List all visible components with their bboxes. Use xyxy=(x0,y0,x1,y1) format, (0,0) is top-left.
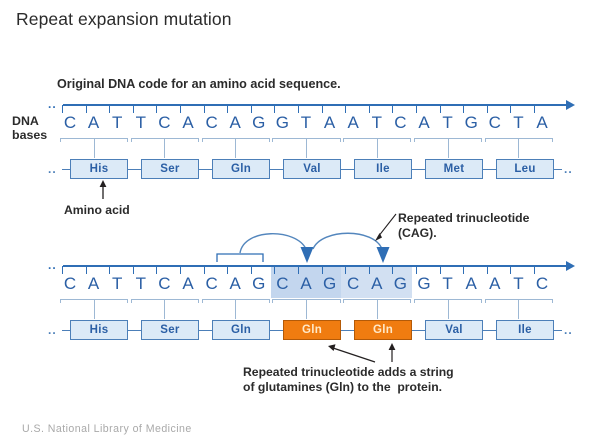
codon-bar-end xyxy=(485,299,486,303)
base-tick xyxy=(510,105,511,113)
repeat-arc-1-icon xyxy=(240,234,314,263)
dna-base: C xyxy=(271,274,293,294)
codon-stem xyxy=(448,299,449,319)
dna-base: T xyxy=(106,274,128,294)
codon-stem xyxy=(377,299,378,319)
dna-base: C xyxy=(531,274,553,294)
base-tick xyxy=(133,105,134,113)
codon-stem xyxy=(518,299,519,319)
chain-link xyxy=(341,330,354,331)
base-tick xyxy=(392,105,393,113)
base-tick xyxy=(369,105,370,113)
amino-acid-box: Val xyxy=(283,159,341,179)
dna-base: T xyxy=(295,113,317,133)
amino-acid-box: Ser xyxy=(141,320,199,340)
codon-stem xyxy=(164,299,165,319)
dna-base: A xyxy=(224,274,246,294)
strand1-backbone xyxy=(63,104,566,106)
codon-bar-end xyxy=(343,138,344,142)
dna-base: G xyxy=(413,274,435,294)
base-tick xyxy=(416,266,417,274)
codon-bar-end xyxy=(269,299,270,303)
codon-bar-end xyxy=(127,138,128,142)
dna-base: T xyxy=(437,274,459,294)
repeated-trinucleotide-callout-label: Repeated trinucleotide(CAG). xyxy=(398,211,529,241)
base-tick xyxy=(487,266,488,274)
dna-base: A xyxy=(342,113,364,133)
chain-link xyxy=(554,169,562,170)
codon-bar-end xyxy=(131,299,132,303)
base-tick xyxy=(440,105,441,113)
codon-stem xyxy=(448,138,449,158)
dna-bases-label: DNAbases xyxy=(12,114,47,142)
base-tick xyxy=(62,105,63,113)
chain-link xyxy=(483,330,496,331)
base-tick xyxy=(86,105,87,113)
codon-stem xyxy=(306,138,307,158)
dna-base: C xyxy=(59,274,81,294)
chain-lead-ellipsis: .. xyxy=(48,323,57,337)
amino-acid-box-expanded: Gln xyxy=(283,320,341,340)
dna-base: G xyxy=(248,113,270,133)
chain-trail-ellipsis: .. xyxy=(564,323,573,337)
codon-stem xyxy=(235,299,236,319)
base-tick xyxy=(534,105,535,113)
codon-bar-end xyxy=(60,138,61,142)
base-tick xyxy=(298,105,299,113)
base-tick xyxy=(180,266,181,274)
base-tick xyxy=(440,266,441,274)
codon-bar-end xyxy=(410,299,411,303)
amino-acid-box: Ile xyxy=(354,159,412,179)
chain-link xyxy=(62,330,70,331)
dna-base: A xyxy=(177,274,199,294)
base-tick xyxy=(180,105,181,113)
dna-base: A xyxy=(83,274,105,294)
base-tick xyxy=(534,266,535,274)
chain-link xyxy=(270,330,283,331)
original-sequence-caption: Original DNA code for an amino acid sequ… xyxy=(57,77,341,91)
base-tick xyxy=(62,266,63,274)
codon-bar-end xyxy=(340,299,341,303)
base-tick xyxy=(109,105,110,113)
base-tick xyxy=(133,266,134,274)
amino-acid-leader-arrow-icon xyxy=(100,180,107,199)
base-tick xyxy=(156,105,157,113)
codon-bar-end xyxy=(410,138,411,142)
amino-acid-box: Ile xyxy=(496,320,554,340)
page-title: Repeat expansion mutation xyxy=(16,9,232,30)
dna-base: A xyxy=(224,113,246,133)
codon-stem xyxy=(94,299,95,319)
codon-bar-end xyxy=(272,299,273,303)
base-tick xyxy=(156,266,157,274)
codon-bar-end xyxy=(340,138,341,142)
repeated-trinucleotide-leader-arrow-icon xyxy=(375,214,396,241)
codon-stem xyxy=(306,299,307,319)
base-tick xyxy=(274,105,275,113)
base-tick xyxy=(204,105,205,113)
base-tick xyxy=(298,266,299,274)
dna-base: T xyxy=(437,113,459,133)
codon-bar-end xyxy=(552,138,553,142)
dna-base: C xyxy=(389,113,411,133)
strand1-arrowhead-icon xyxy=(566,100,575,110)
dna-base: A xyxy=(366,274,388,294)
dna-base: C xyxy=(59,113,81,133)
base-tick xyxy=(227,105,228,113)
chain-link xyxy=(128,169,141,170)
dna-base: A xyxy=(484,274,506,294)
codon-bar-end xyxy=(485,138,486,142)
codon-bar-end xyxy=(60,299,61,303)
dna-base: C xyxy=(201,274,223,294)
base-tick xyxy=(510,266,511,274)
base-tick xyxy=(416,105,417,113)
base-tick xyxy=(463,105,464,113)
dna-base: G xyxy=(248,274,270,294)
codon-bar-end xyxy=(414,299,415,303)
base-tick xyxy=(251,266,252,274)
dna-base: A xyxy=(413,113,435,133)
amino-acid-box: Val xyxy=(425,320,483,340)
amino-acid-box: Gln xyxy=(212,159,270,179)
amino-acid-box-expanded: Gln xyxy=(354,320,412,340)
codon-stem xyxy=(377,138,378,158)
amino-acid-box: Leu xyxy=(496,159,554,179)
dna-base: C xyxy=(484,113,506,133)
codon-bar-end xyxy=(414,138,415,142)
chain-link xyxy=(554,330,562,331)
chain-lead-ellipsis: .. xyxy=(48,162,57,176)
base-tick xyxy=(345,105,346,113)
base-tick xyxy=(251,105,252,113)
chain-link xyxy=(412,330,425,331)
dna-base: T xyxy=(106,113,128,133)
base-tick xyxy=(487,105,488,113)
codon-bar-end xyxy=(198,299,199,303)
text-line: Repeated trinucleotide adds a string xyxy=(243,365,454,379)
codon-bar-end xyxy=(269,138,270,142)
codon-bar-end xyxy=(481,299,482,303)
dna-base: C xyxy=(153,274,175,294)
amino-acid-callout-label: Amino acid xyxy=(64,203,130,217)
strand1-lead-ellipsis: .. xyxy=(48,101,57,107)
chain-link xyxy=(128,330,141,331)
strand2-arrowhead-icon xyxy=(566,261,575,271)
codon-stem xyxy=(94,138,95,158)
dna-base: G xyxy=(460,113,482,133)
amino-acid-box: Ser xyxy=(141,159,199,179)
codon-bar-end xyxy=(481,138,482,142)
base-tick xyxy=(392,266,393,274)
chain-link xyxy=(412,169,425,170)
amino-acid-box: His xyxy=(70,320,128,340)
codon-bar-end xyxy=(552,299,553,303)
codon-bar-end xyxy=(127,299,128,303)
chain-link xyxy=(270,169,283,170)
chain-link xyxy=(483,169,496,170)
amino-acid-box: His xyxy=(70,159,128,179)
diagram-canvas: Repeat expansion mutation Original DNA c… xyxy=(0,0,600,442)
strand2-backbone xyxy=(63,265,566,267)
base-tick xyxy=(204,266,205,274)
base-tick xyxy=(463,266,464,274)
amino-acid-box: Met xyxy=(425,159,483,179)
dna-base: A xyxy=(460,274,482,294)
dna-base: G xyxy=(271,113,293,133)
chain-trail-ellipsis: .. xyxy=(564,162,573,176)
dna-base: A xyxy=(177,113,199,133)
base-tick xyxy=(322,105,323,113)
amino-acid-box: Gln xyxy=(212,320,270,340)
base-tick xyxy=(274,266,275,274)
dna-base: A xyxy=(83,113,105,133)
dna-base: T xyxy=(130,274,152,294)
repeat-arc-2-icon xyxy=(313,233,390,263)
base-tick xyxy=(369,266,370,274)
text-line: of glutamines (Gln) to the protein. xyxy=(243,380,442,394)
bottom-note-leader-arrow-1-icon xyxy=(328,344,375,362)
codon-bar-end xyxy=(272,138,273,142)
dna-base: T xyxy=(507,113,529,133)
chain-link xyxy=(341,169,354,170)
text-line: Repeated trinucleotide xyxy=(398,211,529,225)
base-tick xyxy=(345,266,346,274)
base-tick xyxy=(227,266,228,274)
bottom-note-label: Repeated trinucleotide adds a stringof g… xyxy=(243,365,454,395)
dna-base: C xyxy=(201,113,223,133)
dna-base: A xyxy=(531,113,553,133)
base-tick xyxy=(86,266,87,274)
dna-base: C xyxy=(153,113,175,133)
chain-link xyxy=(199,169,212,170)
dna-base: T xyxy=(366,113,388,133)
codon-stem xyxy=(518,138,519,158)
text-line: (CAG). xyxy=(398,226,437,240)
dna-base: C xyxy=(342,274,364,294)
dna-base: T xyxy=(130,113,152,133)
dna-base: A xyxy=(319,113,341,133)
dna-base: T xyxy=(507,274,529,294)
codon-stem xyxy=(164,138,165,158)
codon-bar-end xyxy=(202,299,203,303)
strand2-lead-ellipsis: .. xyxy=(48,262,57,268)
bottom-note-leader-arrow-2-icon xyxy=(389,343,396,362)
codon-bar-end xyxy=(343,299,344,303)
base-tick xyxy=(109,266,110,274)
codon-stem xyxy=(235,138,236,158)
dna-base: A xyxy=(295,274,317,294)
codon-bar-end xyxy=(198,138,199,142)
chain-link xyxy=(199,330,212,331)
codon-bar-end xyxy=(202,138,203,142)
footer-credit: U.S. National Library of Medicine xyxy=(22,423,192,435)
base-tick xyxy=(322,266,323,274)
dna-base: G xyxy=(389,274,411,294)
codon-duplication-bracket-icon xyxy=(217,254,263,262)
codon-bar-end xyxy=(131,138,132,142)
chain-link xyxy=(62,169,70,170)
dna-base: G xyxy=(319,274,341,294)
